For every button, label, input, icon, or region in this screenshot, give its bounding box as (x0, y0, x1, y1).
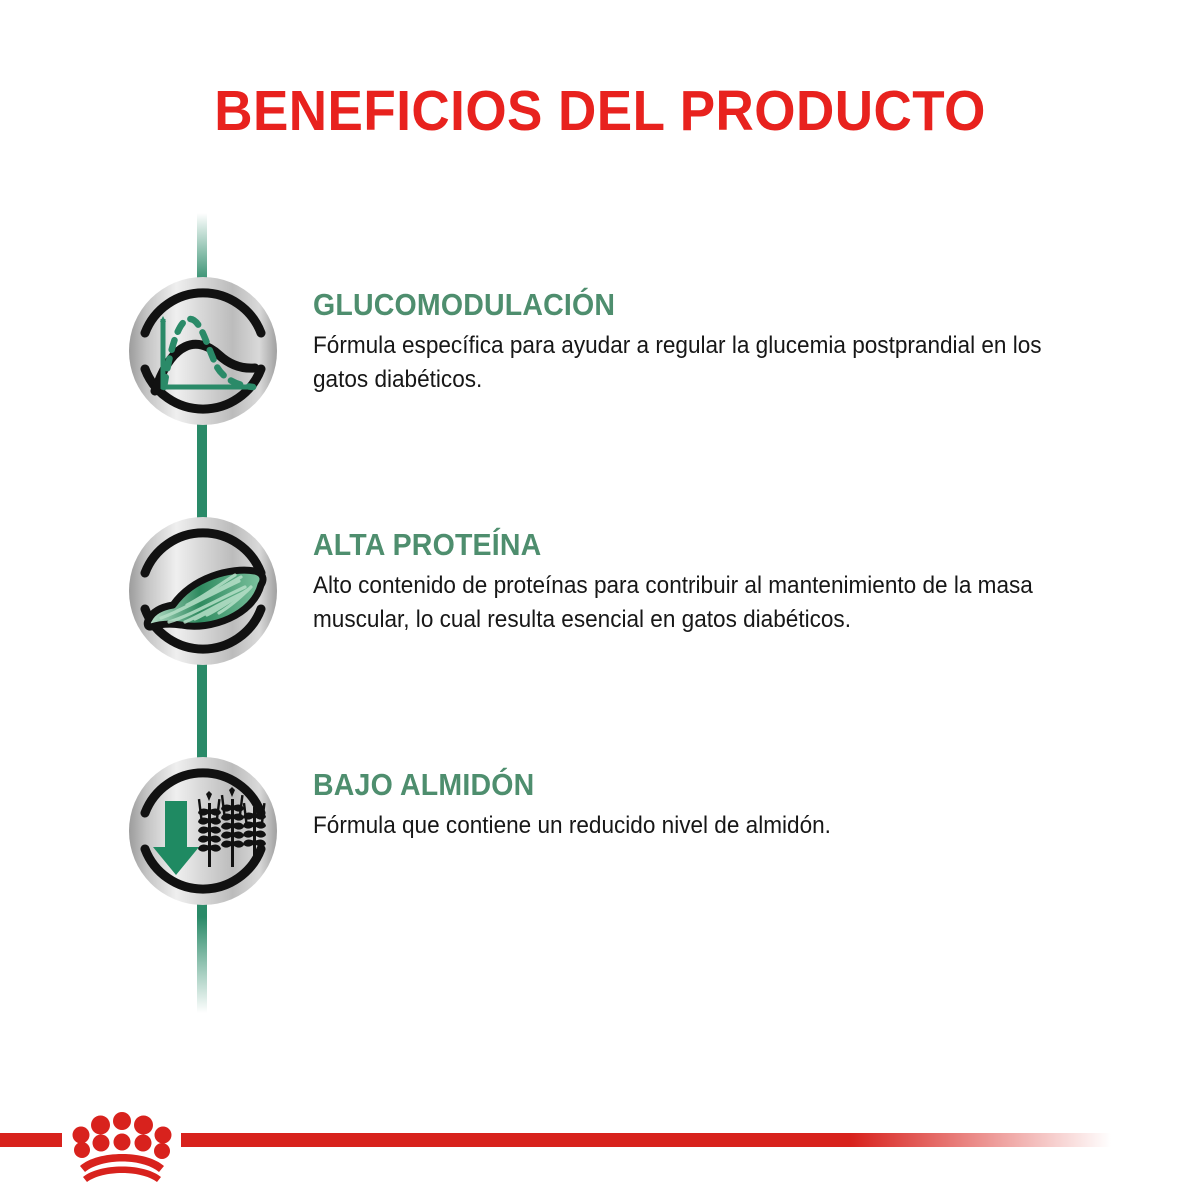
glucose-curve-icon (127, 275, 279, 427)
muscle-fiber-icon (127, 515, 279, 667)
benefit-description: Alto contenido de proteínas para contrib… (313, 569, 1056, 637)
page-title: BENEFICIOS DEL PRODUCTO (42, 78, 1158, 144)
royal-canin-crown-logo (66, 1098, 178, 1190)
benefit-text-block: ALTA PROTEÍNA Alto contenido de proteína… (313, 527, 1103, 637)
benefit-heading: ALTA PROTEÍNA (313, 527, 1040, 563)
product-benefits-page: BENEFICIOS DEL PRODUCTO (0, 0, 1200, 1200)
footer (0, 1128, 1200, 1200)
footer-bar-right (181, 1133, 1111, 1147)
benefit-heading: GLUCOMODULACIÓN (313, 287, 1040, 323)
wheat-down-arrow-icon (127, 755, 279, 907)
benefit-text-block: GLUCOMODULACIÓN Fórmula específica para … (313, 287, 1103, 397)
footer-bar-left (0, 1133, 62, 1147)
benefit-text-block: BAJO ALMIDÓN Fórmula que contiene un red… (313, 767, 1103, 843)
benefit-description: Fórmula específica para ayudar a regular… (313, 329, 1056, 397)
benefit-description: Fórmula que contiene un reducido nivel d… (313, 809, 1056, 843)
benefit-heading: BAJO ALMIDÓN (313, 767, 1040, 803)
